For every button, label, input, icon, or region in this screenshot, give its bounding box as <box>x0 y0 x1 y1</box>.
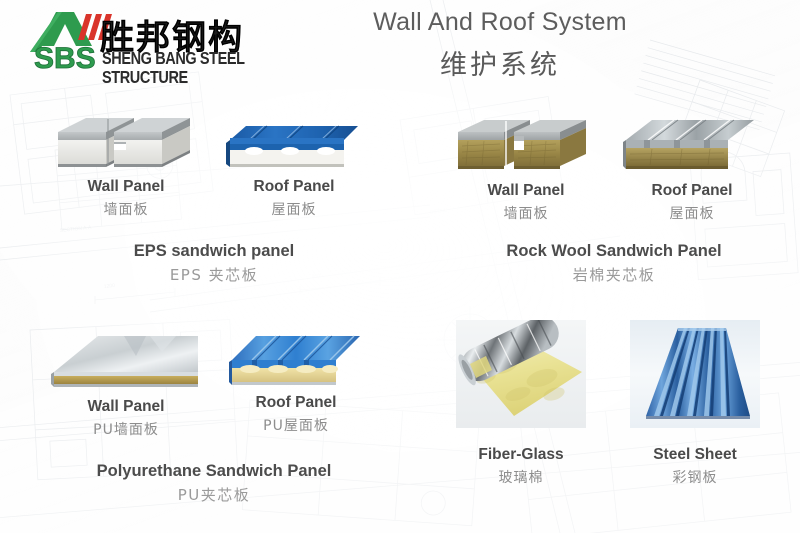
logo-brand-en: SHENG BANG STEEL STRUCTURE <box>102 50 276 88</box>
eps-wall-panel-label-en: Wall Panel <box>56 178 196 196</box>
steel-sheet-photo <box>630 320 760 428</box>
pu-caption: Polyurethane Sandwich Panel PU夹芯板 <box>34 462 394 505</box>
rockwool-wall-panel-label-cn: 墙面板 <box>456 203 596 223</box>
svg-text:SBS: SBS <box>34 42 96 72</box>
eps-caption-cn: EPS 夹芯板 <box>34 264 394 285</box>
pu-wall-panel[interactable]: Wall Panel PU墙面板 <box>50 322 202 439</box>
product-group-pu: Wall Panel PU墙面板 <box>34 318 394 430</box>
fiber-glass-photo <box>456 320 586 428</box>
fiber-glass-label-cn: 玻璃棉 <box>456 467 586 487</box>
rockwool-roof-panel-photo <box>622 110 762 182</box>
pu-caption-cn: PU夹芯板 <box>34 484 394 505</box>
page-title: Wall And Roof System 维护系统 <box>300 8 700 82</box>
rockwool-caption: Rock Wool Sandwich Panel 岩棉夹芯板 <box>434 242 794 285</box>
pu-roof-panel[interactable]: Roof Panel PU屋面板 <box>226 326 366 435</box>
eps-wall-panel-label-cn: 墙面板 <box>56 199 196 219</box>
title-chinese: 维护系统 <box>300 43 700 82</box>
pu-wall-panel-label-en: Wall Panel <box>50 398 202 416</box>
pu-wall-panel-photo <box>50 322 202 394</box>
rockwool-caption-cn: 岩棉夹芯板 <box>434 264 794 285</box>
eps-wall-panel-photo <box>56 106 196 178</box>
title-english: Wall And Roof System <box>300 8 700 37</box>
steel-sheet-label-cn: 彩钢板 <box>630 467 760 487</box>
company-logo[interactable]: SBS SBS 胜邦钢构 SHENG BANG STEEL STRUCTURE <box>14 6 276 74</box>
pu-caption-en: Polyurethane Sandwich Panel <box>34 462 394 481</box>
rockwool-roof-panel[interactable]: Roof Panel 屋面板 <box>622 110 762 223</box>
eps-roof-panel[interactable]: Roof Panel 屋面板 <box>224 118 364 219</box>
eps-wall-panel[interactable]: Wall Panel 墙面板 <box>56 106 196 219</box>
eps-caption: EPS sandwich panel EPS 夹芯板 <box>34 242 394 285</box>
product-group-eps: Wall Panel 墙面板 <box>34 104 394 222</box>
pu-roof-panel-label-cn: PU屋面板 <box>226 415 366 435</box>
pu-roof-panel-photo <box>226 326 366 394</box>
fiber-glass-label-en: Fiber-Glass <box>456 446 586 464</box>
eps-roof-panel-label-en: Roof Panel <box>224 178 364 196</box>
rockwool-roof-panel-label-cn: 屋面板 <box>622 203 762 223</box>
steel-sheet-label-en: Steel Sheet <box>630 446 760 464</box>
steel-sheet-item[interactable]: Steel Sheet 彩钢板 <box>630 320 760 487</box>
eps-roof-panel-photo <box>224 118 364 178</box>
pu-roof-panel-label-en: Roof Panel <box>226 394 366 412</box>
eps-caption-en: EPS sandwich panel <box>34 242 394 261</box>
rockwool-caption-en: Rock Wool Sandwich Panel <box>434 242 794 261</box>
rockwool-wall-panel-photo <box>456 110 596 182</box>
rockwool-wall-panel-label-en: Wall Panel <box>456 182 596 200</box>
rockwool-wall-panel[interactable]: Wall Panel 墙面板 <box>456 110 596 223</box>
rockwool-roof-panel-label-en: Roof Panel <box>622 182 762 200</box>
fiber-glass-item[interactable]: Fiber-Glass 玻璃棉 <box>456 320 586 487</box>
pu-wall-panel-label-cn: PU墙面板 <box>50 419 202 439</box>
product-group-rockwool: Wall Panel 墙面板 <box>434 104 794 222</box>
eps-roof-panel-label-cn: 屋面板 <box>224 199 364 219</box>
